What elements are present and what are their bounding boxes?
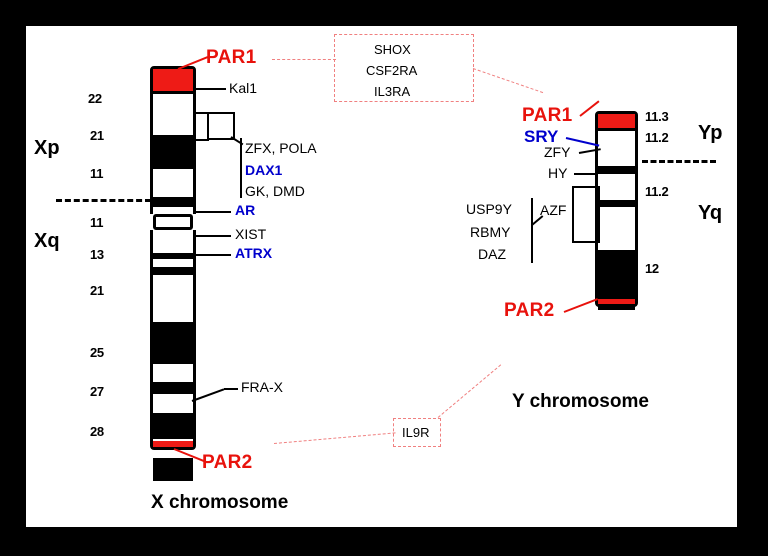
x-centromere-waist-outline xyxy=(153,214,193,230)
x-band-label-27q: 27 xyxy=(90,385,104,398)
x-par2-label: PAR2 xyxy=(202,453,252,472)
x-band-q25 xyxy=(153,413,193,439)
y-chromosome-body xyxy=(595,111,638,307)
x-chromosome-caption: X chromosome xyxy=(151,493,288,512)
x-leader-xist xyxy=(196,235,231,237)
par1-gene-shox: SHOX xyxy=(374,43,411,56)
x-leader-atrx xyxy=(196,254,231,256)
x-band-label-25q: 25 xyxy=(90,346,104,359)
y-par2-label: PAR2 xyxy=(504,301,554,320)
y-azf-gene-usp9y: USP9Y xyxy=(466,202,512,216)
x-centromere-lower xyxy=(153,267,193,275)
y-azf-brace xyxy=(531,198,533,263)
y-par2-leader xyxy=(564,298,598,313)
x-par1-band xyxy=(153,69,193,91)
x-gene-brace xyxy=(240,138,242,198)
par2-box-connector-left xyxy=(274,432,396,444)
x-bracket-upper-connector xyxy=(196,112,209,114)
x-leader-frax xyxy=(192,388,225,402)
x-centromere-notch-right xyxy=(192,214,199,230)
x-arm-label-q: Xq xyxy=(34,231,60,251)
x-gene-frax: FRA-X xyxy=(241,380,283,394)
x-centromere-upper xyxy=(153,253,193,259)
x-chromosome-body xyxy=(150,66,196,450)
x-band-q27 xyxy=(153,458,193,481)
y-azf-gene-rbmy: RBMY xyxy=(470,225,510,239)
y-band-label-112p: 11.2 xyxy=(645,131,668,144)
x-band-label-22: 22 xyxy=(88,92,102,105)
y-chromosome-caption: Y chromosome xyxy=(512,392,649,411)
x-gene-dax1: DAX1 xyxy=(245,163,282,177)
x-band-label-11p: 11 xyxy=(90,167,103,180)
x-leader-ar xyxy=(196,211,231,213)
par1-gene-csf2ra: CSF2RA xyxy=(366,64,417,77)
x-gene-kal1: Kal1 xyxy=(229,81,257,95)
y-gene-hy: HY xyxy=(548,166,567,180)
y-band-label-112q: 11.2 xyxy=(645,185,668,198)
y-centromere-dashed-line xyxy=(642,160,716,163)
x-band-label-28q: 28 xyxy=(90,425,104,438)
x-par1-label: PAR1 xyxy=(206,48,256,67)
x-band-label-13q: 13 xyxy=(90,248,104,261)
x-band-q21 xyxy=(153,322,193,364)
y-band-label-113: 11.3 xyxy=(645,110,668,123)
x-band-p11-dark xyxy=(153,197,193,207)
x-band-q22 xyxy=(153,382,193,394)
y-azf-brace-diagonal xyxy=(531,215,543,226)
y-band-q-sep xyxy=(598,200,635,207)
figure-frame: 22 21 11 11 13 21 25 27 28 Xp Xq Kal1 ZF… xyxy=(0,0,768,556)
x-leader-kal1 xyxy=(196,88,226,90)
x-gene-zfx-pola: ZFX, POLA xyxy=(245,141,317,155)
y-azf-gene-daz: DAZ xyxy=(478,247,506,261)
y-par1-band xyxy=(598,114,635,128)
x-leader-frax-h xyxy=(224,388,238,390)
x-gene-atrx: ATRX xyxy=(235,246,272,260)
x-centromere-dashed-line xyxy=(56,199,151,202)
y-gene-zfy: ZFY xyxy=(544,145,570,159)
x-gene-xist: XIST xyxy=(235,227,266,241)
y-leader-hy xyxy=(574,173,598,175)
par2-box-connector-right xyxy=(438,364,501,417)
x-arm-label-p: Xp xyxy=(34,138,60,158)
par1-box-connector-right xyxy=(473,68,543,93)
y-centromere-band xyxy=(598,166,635,174)
x-band-label-21p: 21 xyxy=(90,129,104,142)
y-band-label-12q: 12 xyxy=(645,262,659,275)
y-gene-sry: SRY xyxy=(524,128,558,145)
x-par2-band xyxy=(153,441,193,447)
x-gene-gk-dmd: GK, DMD xyxy=(245,184,305,198)
y-par1-label: PAR1 xyxy=(522,106,572,125)
y-arm-label-p: Yp xyxy=(698,123,722,143)
par1-gene-il3ra: IL3RA xyxy=(374,85,410,98)
y-arm-label-q: Yq xyxy=(698,203,722,223)
y-band-sep-1 xyxy=(598,128,635,131)
x-band-sep-1 xyxy=(153,91,193,94)
par2-gene-il9r: IL9R xyxy=(402,426,429,439)
figure-canvas: 22 21 11 11 13 21 25 27 28 Xp Xq Kal1 ZF… xyxy=(26,26,737,527)
x-bracket-lower-connector xyxy=(196,139,209,141)
x-band-label-11q: 11 xyxy=(90,216,103,229)
x-band-label-21q: 21 xyxy=(90,284,104,297)
par1-box-connector-left xyxy=(272,59,336,60)
y-azf-bracket-box xyxy=(572,186,600,243)
x-gene-ar: AR xyxy=(235,203,255,217)
y-gene-azf: AZF xyxy=(540,203,566,217)
y-par2-band xyxy=(598,299,635,304)
x-band-p21 xyxy=(153,135,193,169)
